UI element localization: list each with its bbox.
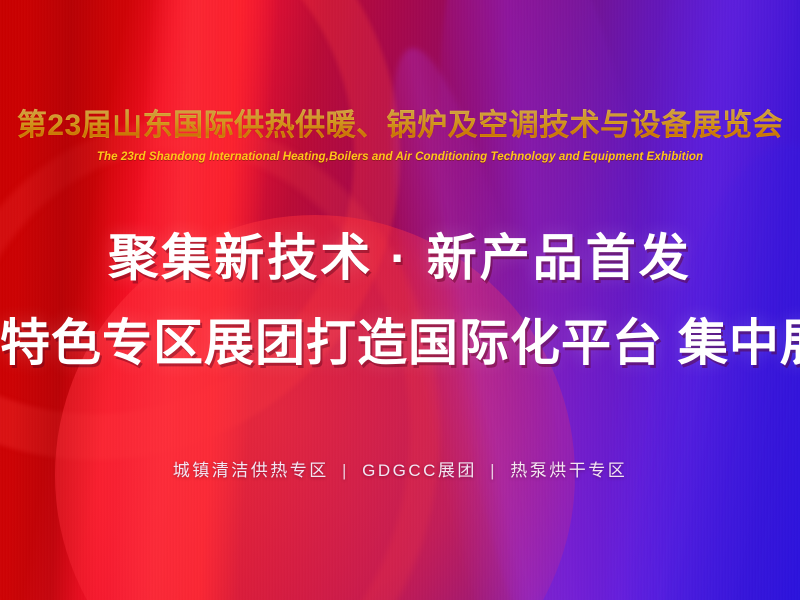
headline-line-1: 聚集新技术 · 新产品首发 [0, 228, 800, 289]
zone-list: 城镇清洁供热专区 | GDGCC展团 | 热泵烘干专区 [0, 456, 800, 481]
headline-line-2: 特色专区展团打造国际化平台 集中展示先进技术 [0, 313, 800, 374]
zone-item-gdgcc-delegation: GDGCC展团 [362, 461, 477, 480]
zone-item-heat-pump-drying: 热泵烘干专区 [510, 461, 627, 480]
event-title-block: 第23届山东国际供热供暖、锅炉及空调技术与设备展览会 The 23rd Shan… [0, 108, 800, 163]
banner-content: 第23届山东国际供热供暖、锅炉及空调技术与设备展览会 The 23rd Shan… [0, 0, 800, 600]
zone-separator-2: | [484, 461, 503, 480]
event-title-english: The 23rd Shandong International Heating,… [0, 151, 800, 163]
promo-banner: 第23届山东国际供热供暖、锅炉及空调技术与设备展览会 The 23rd Shan… [0, 0, 800, 600]
headline-block: 聚集新技术 · 新产品首发 特色专区展团打造国际化平台 集中展示先进技术 [0, 228, 800, 374]
zone-item-urban-clean-heating: 城镇清洁供热专区 [173, 461, 329, 480]
event-title-chinese: 第23届山东国际供热供暖、锅炉及空调技术与设备展览会 [7, 108, 793, 145]
zone-separator-1: | [336, 461, 355, 480]
